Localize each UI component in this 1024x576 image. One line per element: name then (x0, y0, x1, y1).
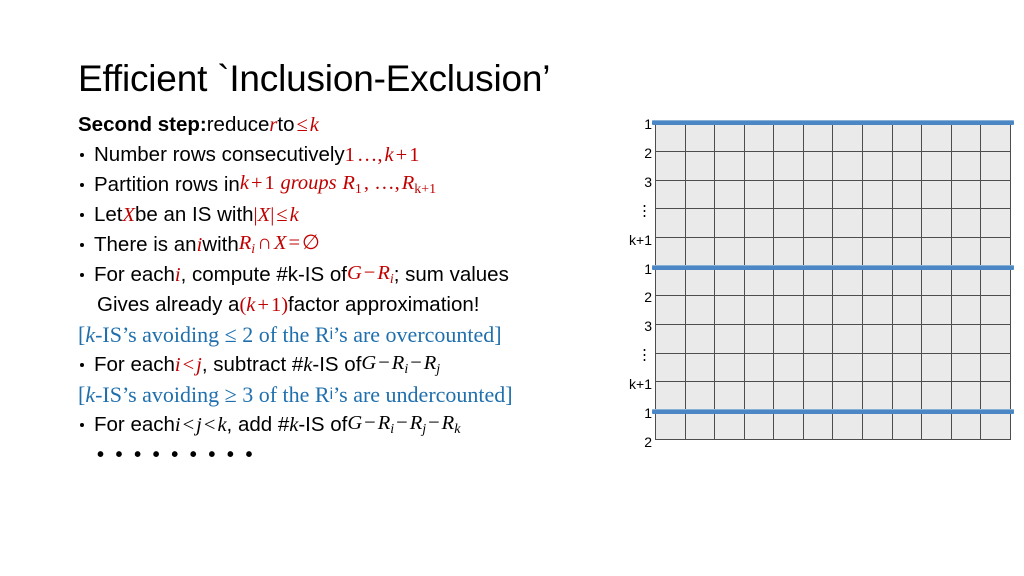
grid-cell (656, 267, 686, 296)
grid-cell (774, 151, 804, 180)
grid-cell (922, 180, 952, 209)
grid-cell (715, 238, 745, 267)
lead-line: Second step: reduce r to ≤k (78, 110, 638, 140)
bullet-add-vars: i<j<k (175, 415, 227, 436)
lead-text-before: reduce (207, 115, 270, 136)
grid-cell (951, 353, 981, 382)
grid-cell (774, 295, 804, 324)
grid-cell (656, 295, 686, 324)
grid-cell (656, 151, 686, 180)
grid-row (656, 151, 1011, 180)
grid-cell (715, 123, 745, 152)
grid-row-label: 1 (644, 262, 652, 276)
grid-cell (833, 295, 863, 324)
bullet-partition-rows: Partition rows in k+1 groups R1, …,Rk+1 (78, 170, 638, 200)
grid-cell (685, 353, 715, 382)
grid-cell (774, 123, 804, 152)
grid-cell (951, 324, 981, 353)
grid-row-label: k+1 (629, 233, 652, 247)
grid-cell (951, 180, 981, 209)
grid-cell (892, 180, 922, 209)
grid-row (656, 324, 1011, 353)
grid-row (656, 180, 1011, 209)
grid-cell (803, 411, 833, 440)
bullet-dot-icon (80, 363, 84, 367)
bullet-foreach-mid: , compute #k-IS of (181, 265, 347, 286)
grid-cell (922, 238, 952, 267)
lead-var-r: r (269, 115, 277, 136)
grid-cell (833, 238, 863, 267)
grid-cell (922, 267, 952, 296)
grid-row-label: ⋮ (637, 203, 652, 218)
bullet-number-rows-math: 1…,k+1 (345, 145, 420, 166)
continuation-line: Gives already a (k+1) factor approximati… (78, 290, 638, 320)
grid-cell (863, 353, 893, 382)
grid-cell (774, 267, 804, 296)
bullet-for-each-i-lt-j: For each i<j, subtract #k-IS of G−Ri−Rj (78, 350, 638, 380)
bullet-there-mid: with (202, 235, 238, 256)
grid-separator-rule (652, 409, 1014, 414)
grid-wrapper (655, 122, 1011, 440)
grid-cell (833, 123, 863, 152)
grid-cell (803, 209, 833, 238)
grid-cell (922, 411, 952, 440)
grid-cell (833, 180, 863, 209)
grid-row (656, 123, 1011, 152)
slide-body: Second step: reduce r to ≤k Number rows … (78, 110, 638, 470)
grid-cell (833, 411, 863, 440)
grid-cell (685, 411, 715, 440)
grid-cell (803, 353, 833, 382)
grid-cell (922, 353, 952, 382)
grid-cell (744, 238, 774, 267)
grid-cell (981, 295, 1011, 324)
grid-cell (951, 151, 981, 180)
grid-separator-rule (652, 120, 1014, 125)
grid-cell (892, 295, 922, 324)
bullet-dot-icon (80, 273, 84, 277)
grid-cell (656, 382, 686, 411)
note-overcounted-tail: ’s are overcounted] (333, 324, 502, 346)
trailing-dots: • • • • • • • • • (78, 440, 638, 470)
continuation-text-a: Gives already a (97, 295, 239, 316)
grid-cell (744, 267, 774, 296)
grid-cell (863, 180, 893, 209)
grid-cell (892, 238, 922, 267)
note-undercounted-tail: ’s are undercounted] (333, 384, 513, 406)
grid-cell (685, 180, 715, 209)
note-overcounted-text: -IS’s avoiding ≤ 2 of the R (95, 324, 330, 346)
grid-cell (892, 267, 922, 296)
grid-row-label: 2 (644, 290, 652, 304)
grid-cell (715, 209, 745, 238)
grid-cell (774, 324, 804, 353)
page-title: Efficient `Inclusion-Exclusion’ (78, 58, 550, 100)
grid-cell (892, 209, 922, 238)
bullet-let-var-x: X (123, 205, 136, 226)
grid-cell (685, 267, 715, 296)
grid-cell (951, 267, 981, 296)
bullet-subtract-is: -IS of (312, 355, 361, 376)
grid-cell (922, 151, 952, 180)
grid-cell (833, 324, 863, 353)
grid-row-label: 3 (644, 319, 652, 333)
grid-row (656, 295, 1011, 324)
bullet-dot-icon (80, 213, 84, 217)
grid-cell (981, 180, 1011, 209)
grid-cell (892, 123, 922, 152)
bullet-number-rows: Number rows consecutively 1…,k+1 (78, 140, 638, 170)
grid-cell (892, 353, 922, 382)
bullet-add-mid: , add # (227, 415, 290, 436)
bullet-add-is: -IS of (298, 415, 347, 436)
grid-cell (951, 238, 981, 267)
bullet-dot-icon (80, 153, 84, 157)
grid-cell (685, 151, 715, 180)
grid-cell (892, 151, 922, 180)
grid-cell (656, 238, 686, 267)
grid-cell (744, 353, 774, 382)
bullet-let-mid: be an IS with (135, 205, 254, 226)
note-undercounted-text: -IS’s avoiding ≥ 3 of the R (95, 384, 330, 406)
continuation-text-b: factor approximation! (288, 295, 479, 316)
grid-cell (803, 238, 833, 267)
grid-row (656, 382, 1011, 411)
bullet-subtract-label: For each (94, 355, 175, 376)
grid-cell (744, 295, 774, 324)
grid-cell (863, 123, 893, 152)
grid-cell (744, 151, 774, 180)
grid-cell (981, 151, 1011, 180)
grid-row-label: 1 (644, 117, 652, 131)
grid-cell (863, 382, 893, 411)
grid-cell (715, 295, 745, 324)
grid-row (656, 353, 1011, 382)
grid-cell (863, 151, 893, 180)
grid-cell (981, 382, 1011, 411)
grid-cell (833, 209, 863, 238)
grid-cell (863, 238, 893, 267)
grid-row-label: k+1 (629, 377, 652, 391)
grid-cell (863, 267, 893, 296)
grid-cell (685, 209, 715, 238)
grid-cell (656, 411, 686, 440)
grid-cell (951, 209, 981, 238)
grid-cell (951, 295, 981, 324)
grid-row (656, 411, 1011, 440)
grid-cell (981, 353, 1011, 382)
grid-row (656, 267, 1011, 296)
grid-cell (833, 353, 863, 382)
grid-cell (803, 382, 833, 411)
grid-cell (833, 151, 863, 180)
grid-cell (656, 123, 686, 152)
bullet-foreach-math: G−Ri (347, 263, 394, 287)
grid-cell (774, 180, 804, 209)
grid-cell (744, 382, 774, 411)
grid-cell (922, 382, 952, 411)
grid-cell (892, 382, 922, 411)
row-partition-grid: 123⋮k+1123⋮k+112 (620, 118, 1016, 448)
bullet-there-label: There is an (94, 235, 197, 256)
bullet-partition-math: k+1 groups R1, …,Rk+1 (240, 173, 436, 197)
bullet-foreach-label: For each (94, 265, 175, 286)
bullet-there-is-i: There is an i with Ri∩X=∅ (78, 230, 638, 260)
grid-cell (981, 209, 1011, 238)
bullet-subtract-mid: , subtract # (202, 355, 303, 376)
grid-cell (774, 382, 804, 411)
grid-cell (833, 382, 863, 411)
bullet-add-math: G−Ri−Rj−Rk (347, 413, 460, 437)
bullet-subtract-k: k (303, 355, 312, 376)
lead-var-k: k (310, 115, 319, 136)
bullet-dot-icon (80, 183, 84, 187)
grid-cell (744, 123, 774, 152)
grid-cell (656, 324, 686, 353)
grid-cell (685, 382, 715, 411)
grid-cell (656, 209, 686, 238)
note-overcounted-var: k (85, 324, 95, 346)
grid-cell (715, 353, 745, 382)
bullet-add-label: For each (94, 415, 175, 436)
bullet-add-k: k (289, 415, 298, 436)
grid-cell (715, 151, 745, 180)
grid-cell (922, 324, 952, 353)
grid-cell (863, 209, 893, 238)
grid-cell (744, 180, 774, 209)
bullet-subtract-vars: i<j (175, 355, 202, 376)
grid-cell (863, 295, 893, 324)
grid-cell (685, 295, 715, 324)
grid-cell (981, 123, 1011, 152)
continuation-math: (k+1) (239, 295, 288, 316)
bullet-there-math: Ri∩X=∅ (239, 233, 320, 257)
bullet-for-each-i: For each i, compute #k-IS of G−Ri; sum v… (78, 260, 638, 290)
grid-cell (803, 151, 833, 180)
grid-cell (715, 180, 745, 209)
grid-row-label: 2 (644, 435, 652, 449)
grid-row-label: 3 (644, 175, 652, 189)
bullet-dot-icon (80, 423, 84, 427)
grid-row-labels: 123⋮k+1123⋮k+112 (620, 118, 652, 444)
grid-cell (951, 411, 981, 440)
bullet-number-rows-label: Number rows consecutively (94, 145, 345, 166)
lead-label: Second step: (78, 115, 207, 136)
grid-cell (892, 411, 922, 440)
grid-cell (685, 123, 715, 152)
bullet-let-math: |X|≤k (254, 205, 299, 226)
grid-cell (803, 267, 833, 296)
bullet-for-each-i-lt-j-lt-k: For each i<j<k, add #k-IS of G−Ri−Rj−Rk (78, 410, 638, 440)
grid-row-label: 1 (644, 406, 652, 420)
grid-cell (774, 209, 804, 238)
bullet-partition-label: Partition rows in (94, 175, 240, 196)
grid-cell (922, 295, 952, 324)
grid-cell (833, 267, 863, 296)
grid-row-label: ⋮ (637, 348, 652, 363)
grid-cell (715, 382, 745, 411)
note-undercounted: [k-IS’s avoiding ≥ 3 of the Ri’s are und… (78, 380, 638, 410)
grid-cell (774, 238, 804, 267)
note-overcounted-open: [ (78, 324, 85, 346)
lead-text-mid: to (277, 115, 294, 136)
grid-table (655, 122, 1011, 440)
grid-cell (981, 238, 1011, 267)
grid-cell (715, 267, 745, 296)
grid-cell (685, 324, 715, 353)
grid-cell (685, 238, 715, 267)
grid-cell (656, 180, 686, 209)
grid-row (656, 209, 1011, 238)
note-undercounted-open: [ (78, 384, 85, 406)
grid-cell (715, 324, 745, 353)
grid-cell (922, 209, 952, 238)
grid-cell (744, 411, 774, 440)
grid-cell (774, 411, 804, 440)
lead-relation: ≤ (295, 115, 310, 136)
grid-cell (656, 353, 686, 382)
grid-row-label: 2 (644, 146, 652, 160)
grid-cell (951, 123, 981, 152)
bullet-subtract-math: G−Ri−Rj (361, 353, 440, 377)
grid-cell (981, 267, 1011, 296)
groups-word: groups (280, 172, 336, 194)
bullet-let-x: Let X be an IS with |X|≤k (78, 200, 638, 230)
grid-cell (803, 180, 833, 209)
grid-cell (981, 324, 1011, 353)
grid-cell (892, 324, 922, 353)
grid-row (656, 238, 1011, 267)
grid-cell (715, 411, 745, 440)
note-overcounted: [k-IS’s avoiding ≤ 2 of the Ri’s are ove… (78, 320, 638, 350)
grid-cell (803, 295, 833, 324)
bullet-dot-icon (80, 243, 84, 247)
bullet-let-label: Let (94, 205, 123, 226)
note-undercounted-var: k (85, 384, 95, 406)
grid-cell (981, 411, 1011, 440)
bullet-foreach-tail: ; sum values (394, 265, 509, 286)
grid-cell (774, 353, 804, 382)
grid-separator-rule (652, 265, 1014, 270)
grid-cell (951, 382, 981, 411)
grid-cell (863, 324, 893, 353)
grid-cell (803, 123, 833, 152)
grid-cell (922, 123, 952, 152)
grid-cell (744, 324, 774, 353)
grid-cell (803, 324, 833, 353)
grid-cell (744, 209, 774, 238)
grid-cell (863, 411, 893, 440)
